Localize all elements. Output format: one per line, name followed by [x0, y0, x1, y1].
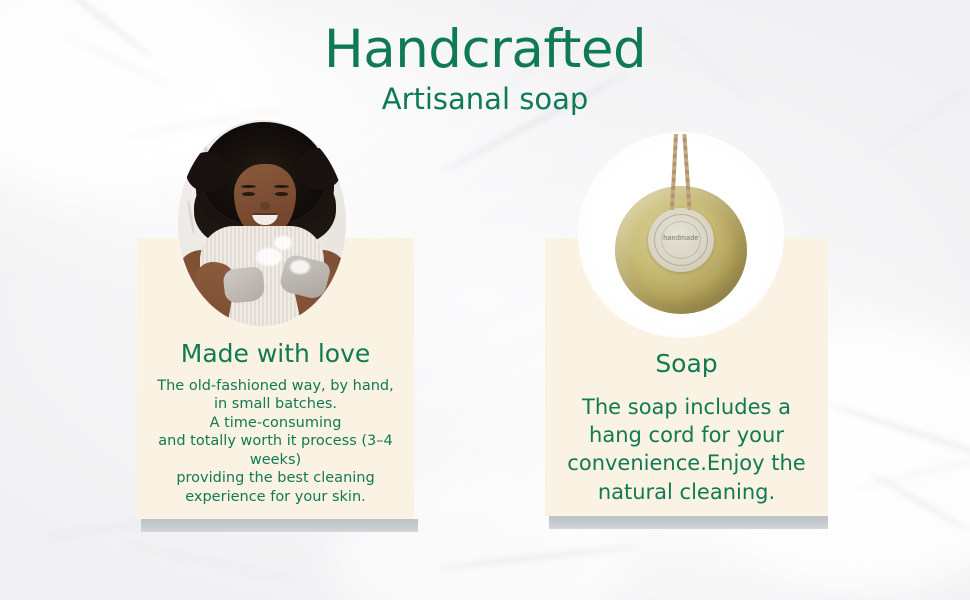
soap-suds — [274, 236, 292, 250]
soap-bar: handmade — [615, 186, 747, 314]
smile — [252, 213, 278, 225]
card-body-made-with-love: The old-fashioned way, by hand, in small… — [137, 377, 414, 507]
soap-label-text: handmade — [648, 235, 714, 242]
page-subtitle: Artisanal soap — [0, 82, 970, 116]
poster-canvas: Handcrafted Artisanal soap Mad — [0, 0, 970, 600]
woman-washing-hands-photo — [178, 120, 346, 326]
eyebrow-right — [274, 185, 289, 188]
soap-paper-label: handmade — [648, 208, 714, 272]
eyebrow-left — [241, 185, 256, 188]
soap-suds — [256, 248, 282, 266]
eye-left — [242, 192, 255, 196]
soap-suds — [290, 260, 310, 274]
card-text-soap: Soap The soap includes a hang cord for y… — [545, 350, 828, 506]
round-soap-bar-photo: handmade — [578, 132, 784, 338]
nose — [260, 202, 270, 210]
eye-right — [275, 192, 288, 196]
card-shadow-left — [141, 519, 418, 532]
card-text-made-with-love: Made with love The old-fashioned way, by… — [137, 340, 414, 507]
poster-header: Handcrafted Artisanal soap — [0, 22, 970, 116]
card-body-soap: The soap includes a hang cord for your c… — [545, 393, 828, 506]
page-title: Handcrafted — [0, 22, 970, 78]
card-heading-soap: Soap — [545, 350, 828, 379]
card-shadow-right — [549, 516, 828, 529]
card-heading-made-with-love: Made with love — [137, 340, 414, 369]
